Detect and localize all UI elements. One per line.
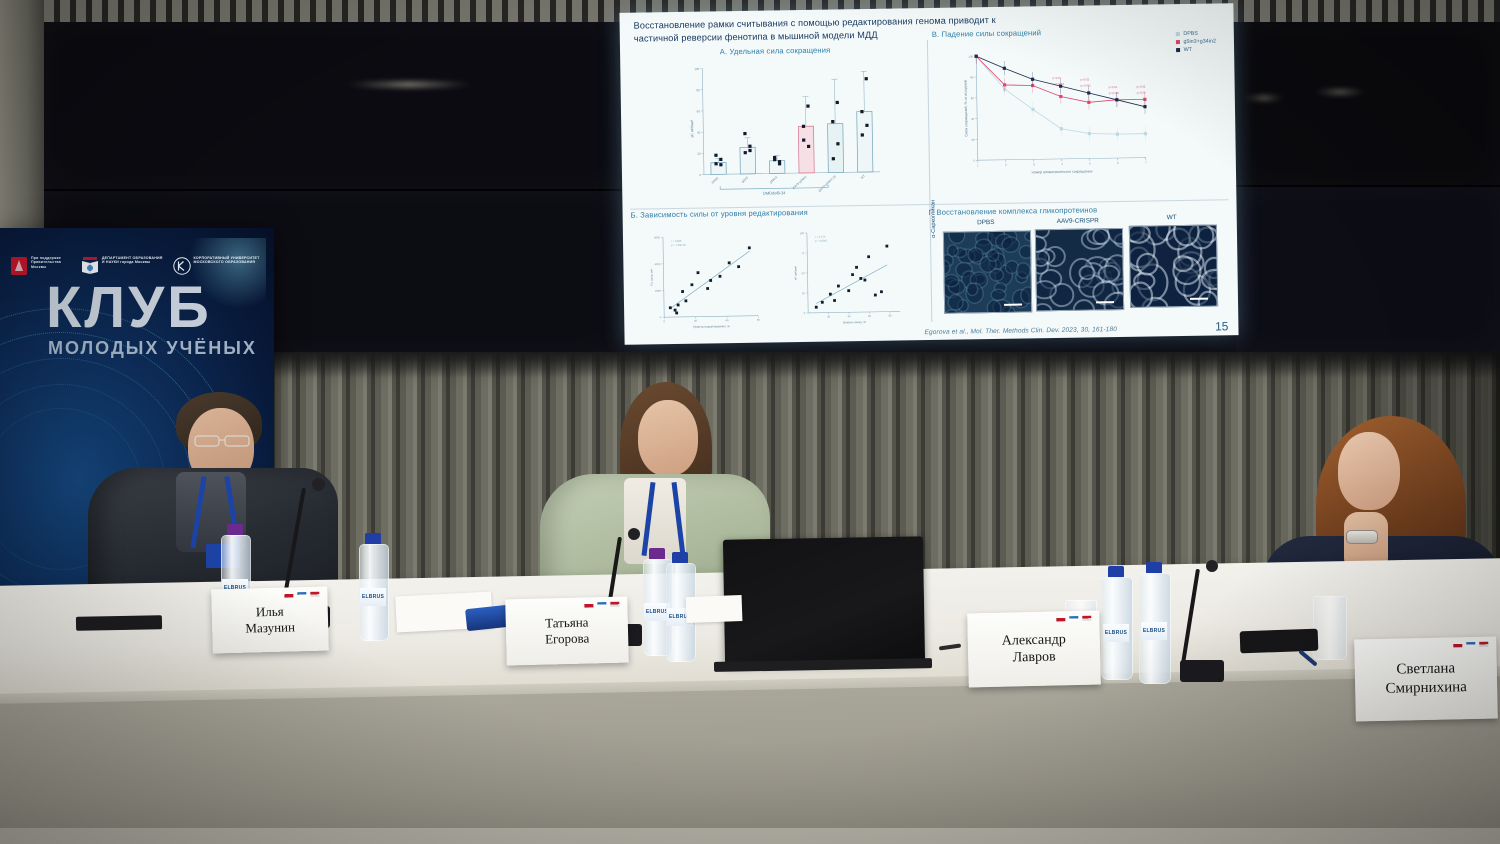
svg-text:0: 0 — [804, 311, 806, 315]
logo-text-corpuniv: КОРПОРАТИВНЫЙ УНИВЕРСИТЕТ МОСКОВСКОГО ОБ… — [194, 256, 268, 265]
svg-text:0: 0 — [973, 159, 975, 163]
logo-text-moscow: При поддержке Правительства Москвы — [31, 256, 73, 269]
placard-first-name: Светлана — [1396, 660, 1455, 680]
svg-text:g34in2: g34in2 — [769, 175, 779, 184]
svg-text:Уровень редактирования, %: Уровень редактирования, % — [693, 324, 730, 329]
name-placard-4: Светлана Смирнихина — [1354, 637, 1498, 722]
logo-dept-education: ДЕПАРТАМЕНТ ОБРАЗОВАНИЯ И НАУКИ города М… — [81, 256, 165, 276]
logo-corporate-university: КОРПОРАТИВНЫЙ УНИВЕРСИТЕТ МОСКОВСКОГО ОБ… — [173, 256, 268, 276]
svg-text:25: 25 — [802, 291, 806, 295]
water-bottle-6[interactable]: ELBRUS — [1137, 562, 1171, 682]
svg-text:5: 5 — [1089, 161, 1091, 165]
banner-subtitle: МОЛОДЫХ УЧЁНЫХ — [48, 338, 257, 359]
svg-text:p=0.006: p=0.006 — [1109, 91, 1120, 95]
svg-text:r = 0.575: r = 0.575 — [815, 235, 826, 239]
bottle-label: ELBRUS — [360, 588, 386, 606]
svg-text:20: 20 — [971, 138, 975, 142]
banner-headline: КЛУБ — [46, 274, 212, 341]
table-device-dark — [76, 615, 162, 630]
svg-text:p = 1.16e-05: p = 1.16e-05 — [671, 243, 686, 247]
placard-flags — [584, 602, 619, 608]
placard-flags — [1453, 642, 1488, 648]
panel-b: Б. Зависимость силы от уровня редактиров… — [631, 206, 931, 341]
svg-text:40: 40 — [697, 131, 701, 135]
svg-text:r = 0.800: r = 0.800 — [671, 239, 682, 243]
water-bottle-2[interactable]: ELBRUS — [357, 533, 389, 639]
placard-last-name: Смирнихина — [1385, 678, 1467, 698]
svg-text:6000: 6000 — [654, 235, 660, 239]
panel-b-charts: 02000400060000204060r = 0.800p = 1.16e-0… — [631, 217, 931, 334]
bottle-label: ELBRUS — [1141, 622, 1167, 640]
ku-monogram-icon — [173, 256, 191, 276]
head — [638, 400, 698, 476]
svg-text:60: 60 — [757, 318, 761, 322]
video-wall-panel — [44, 22, 622, 190]
legend-label-edited: g5in3+g34in2 — [1183, 37, 1216, 46]
banner-logos: При поддержке Правительства Москвы ДЕПАР… — [10, 256, 268, 276]
micro-label-wt: WT — [1129, 214, 1215, 222]
micrograph-wt — [1129, 224, 1218, 307]
svg-text:60: 60 — [971, 96, 975, 100]
svg-text:2000: 2000 — [655, 289, 661, 293]
moscow-coat-of-arms-icon — [10, 256, 28, 276]
svg-text:40: 40 — [848, 314, 852, 318]
legend-item: WT — [1176, 45, 1216, 54]
micrograph-aav9-crispr — [1035, 228, 1124, 311]
tablet-device[interactable] — [1240, 629, 1319, 654]
legend-swatch-edited — [1176, 40, 1180, 44]
svg-text:60: 60 — [868, 314, 872, 318]
panel-v-legend: DPBS g5in3+g34in2 WT — [1176, 29, 1216, 54]
legend-label-wt: WT — [1183, 46, 1192, 54]
video-wall-panel — [1236, 22, 1500, 186]
panel-v-xlabel: номер изометрического сокращения — [1032, 169, 1093, 174]
svg-text:50: 50 — [802, 271, 806, 275]
panel-seam — [1236, 185, 1500, 187]
svg-text:40: 40 — [725, 318, 729, 322]
micrograph-dpbs — [943, 230, 1032, 313]
water-bottle-5[interactable]: ELBRUS — [1099, 566, 1133, 678]
screen-glare — [344, 82, 474, 87]
placard-first-name: Александр — [1002, 631, 1066, 650]
scale-bar — [1004, 304, 1022, 306]
svg-text:20: 20 — [694, 319, 698, 323]
svg-text:80: 80 — [889, 314, 893, 318]
slide-page-number: 15 — [1215, 319, 1229, 333]
placard-last-name: Егорова — [545, 630, 590, 647]
logo-text-dept: ДЕПАРТАМЕНТ ОБРАЗОВАНИЯ И НАУКИ города М… — [102, 256, 165, 265]
svg-text:p=0.0004: p=0.0004 — [1053, 82, 1065, 86]
svg-text:100: 100 — [694, 67, 699, 71]
svg-text:4: 4 — [1061, 162, 1063, 166]
svg-text:6: 6 — [1117, 161, 1119, 165]
open-book-icon — [81, 256, 99, 276]
svg-text:1: 1 — [977, 163, 979, 167]
laptop-screen[interactable] — [723, 536, 925, 665]
svg-text:0: 0 — [660, 315, 662, 319]
glasses-icon — [194, 434, 252, 446]
svg-text:7: 7 — [1145, 161, 1147, 165]
svg-text:p=0.01: p=0.01 — [1109, 85, 1118, 89]
bottle-label: ELBRUS — [1103, 624, 1129, 642]
scale-bar — [1096, 301, 1114, 303]
svg-text:75: 75 — [801, 251, 805, 255]
micro-label-aav9: AAV9-CRISPR — [1035, 217, 1121, 225]
paper-sheet-2 — [686, 595, 743, 623]
svg-text:100: 100 — [800, 231, 805, 235]
placard-last-name: Мазунин — [245, 619, 295, 637]
panel-a-xlabel: DMDdel8-34 — [763, 190, 786, 195]
legend-item: g5in3+g34in2 — [1176, 37, 1216, 46]
svg-text:80: 80 — [696, 88, 700, 92]
logo-moscow-government: При поддержке Правительства Москвы — [10, 256, 73, 276]
svg-text:20: 20 — [827, 315, 831, 319]
panel-g-ylabel: α-Саркогликан — [930, 158, 937, 238]
floor — [0, 828, 1500, 844]
svg-text:Уровень белка, %: Уровень белка, % — [843, 320, 867, 324]
svg-text:g5in3: g5in3 — [741, 175, 749, 183]
panel-seam — [44, 189, 622, 191]
svg-text:Fo, сила, мН: Fo, сила, мН — [649, 269, 653, 286]
placard-flags — [1056, 616, 1091, 622]
svg-text:20: 20 — [697, 152, 701, 156]
svg-text:p=0.02: p=0.02 — [1137, 85, 1146, 89]
panel-a-ylabel: sF, мН/мм² — [690, 119, 694, 138]
svg-text:0: 0 — [664, 319, 666, 323]
svg-text:100: 100 — [968, 55, 973, 59]
svg-text:0: 0 — [699, 173, 701, 177]
svg-text:p=0.01: p=0.01 — [1052, 76, 1061, 80]
presentation-slide: Восстановление рамки считывания с помощь… — [619, 3, 1238, 345]
svg-text:p=0.05: p=0.05 — [1137, 91, 1146, 95]
legend-label-dpbs: DPBS — [1183, 30, 1198, 38]
video-wall-panel — [1236, 186, 1500, 352]
name-placard-3: Александр Лавров — [967, 611, 1101, 688]
panel-a: А. Удельная сила сокращения 020406080100… — [630, 44, 922, 207]
drinking-glass-2[interactable] — [1313, 596, 1347, 660]
svg-text:2: 2 — [1005, 163, 1007, 167]
legend-swatch-wt — [1177, 48, 1181, 52]
panel-a-chart: 020406080100 DPBSg5in3g34in2g5in3+g34in2… — [630, 55, 922, 200]
svg-text:sF, мН/мм²: sF, мН/мм² — [793, 266, 797, 280]
svg-text:g5in3+g34in2 (2): g5in3+g34in2 (2) — [817, 174, 836, 192]
svg-text:DPBS: DPBS — [711, 176, 720, 184]
panel-v-chart: 020406080100 1234567 p=0.01p=0.0004p=0.0… — [932, 36, 1226, 191]
svg-text:p = 0.0047: p = 0.0047 — [815, 239, 828, 243]
scale-bar — [1190, 298, 1208, 300]
placard-last-name: Лавров — [1013, 649, 1056, 667]
micro-label-dpbs: DPBS — [943, 218, 1029, 226]
placard-flags — [284, 592, 319, 598]
panel-v: В. Падение силы сокращений DPBS g5in3+g3… — [932, 25, 1227, 202]
svg-text:40: 40 — [971, 117, 975, 121]
svg-text:60: 60 — [697, 109, 701, 113]
name-placard-2: Татьяна Егорова — [505, 597, 629, 666]
wristwatch — [1346, 530, 1378, 544]
panel-v-ylabel: Сила сокращений, % от исходной — [964, 80, 969, 136]
svg-text:p=0.02: p=0.02 — [1081, 77, 1090, 81]
conference-room-photo: Восстановление рамки считывания с помощь… — [0, 0, 1500, 844]
microphone-3 — [1180, 560, 1224, 692]
panel-g: Г. Восстановление комплекса гликопротеин… — [929, 203, 1231, 340]
placard-first-name: Татьяна — [545, 614, 589, 631]
screen-glare — [1244, 96, 1284, 100]
head — [1338, 432, 1400, 510]
screen-glare — [1314, 90, 1366, 94]
svg-text:WT: WT — [860, 174, 866, 180]
conference-table-front — [0, 676, 1500, 844]
name-placard-1: Илья Мазунин — [211, 586, 329, 653]
svg-text:80: 80 — [970, 75, 974, 79]
legend-swatch-dpbs — [1176, 32, 1180, 36]
svg-text:3: 3 — [1033, 162, 1035, 166]
svg-text:p=0.001: p=0.001 — [1081, 83, 1092, 87]
placard-first-name: Илья — [256, 603, 284, 620]
svg-text:4000: 4000 — [655, 262, 661, 266]
